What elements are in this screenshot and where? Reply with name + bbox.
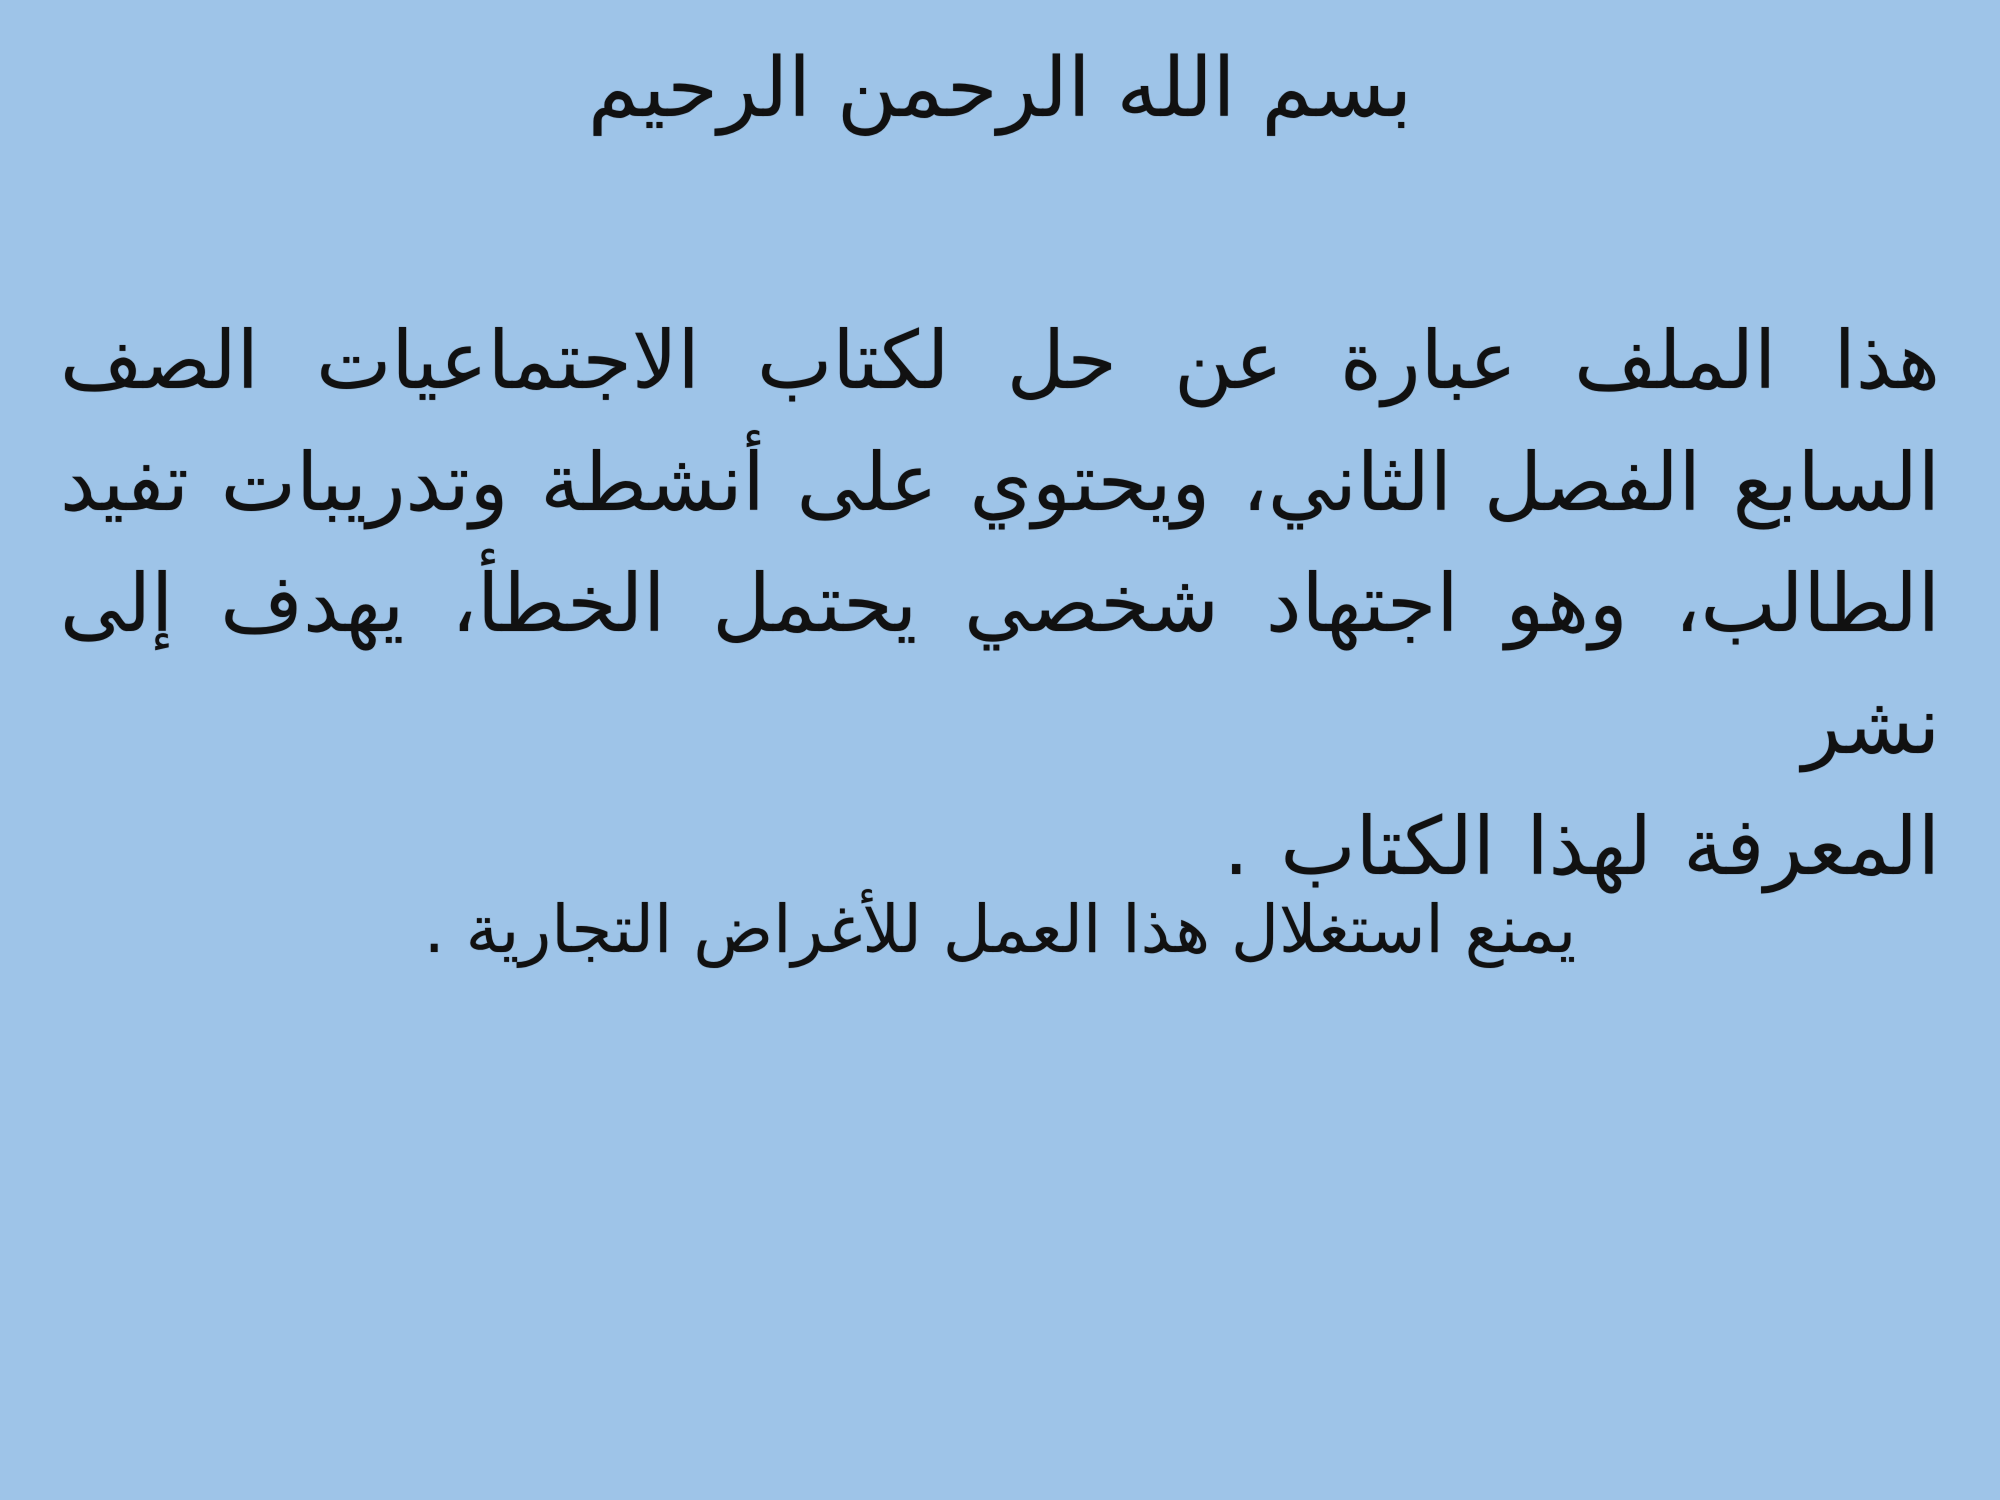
commercial-use-notice: يمنع استغلال هذا العمل للأغراض التجارية …	[60, 880, 1940, 979]
description-paragraph-head: هذا الملف عبارة عن حل لكتاب الاجتماعيات …	[60, 314, 1940, 772]
basmala-header: بسم الله الرحمن الرحيم	[0, 34, 2000, 145]
body-paragraph-block: هذا الملف عبارة عن حل لكتاب الاجتماعيات …	[60, 300, 1940, 908]
usage-notice-block: يمنع استغلال هذا العمل للأغراض التجارية …	[60, 880, 1940, 979]
description-paragraph: هذا الملف عبارة عن حل لكتاب الاجتماعيات …	[60, 300, 1940, 908]
blank-lower-page-area	[0, 1030, 2000, 1500]
basmala-text: بسم الله الرحمن الرحيم	[588, 34, 1412, 145]
document-page: بسم الله الرحمن الرحيم هذا الملف عبارة ع…	[0, 0, 2000, 1500]
